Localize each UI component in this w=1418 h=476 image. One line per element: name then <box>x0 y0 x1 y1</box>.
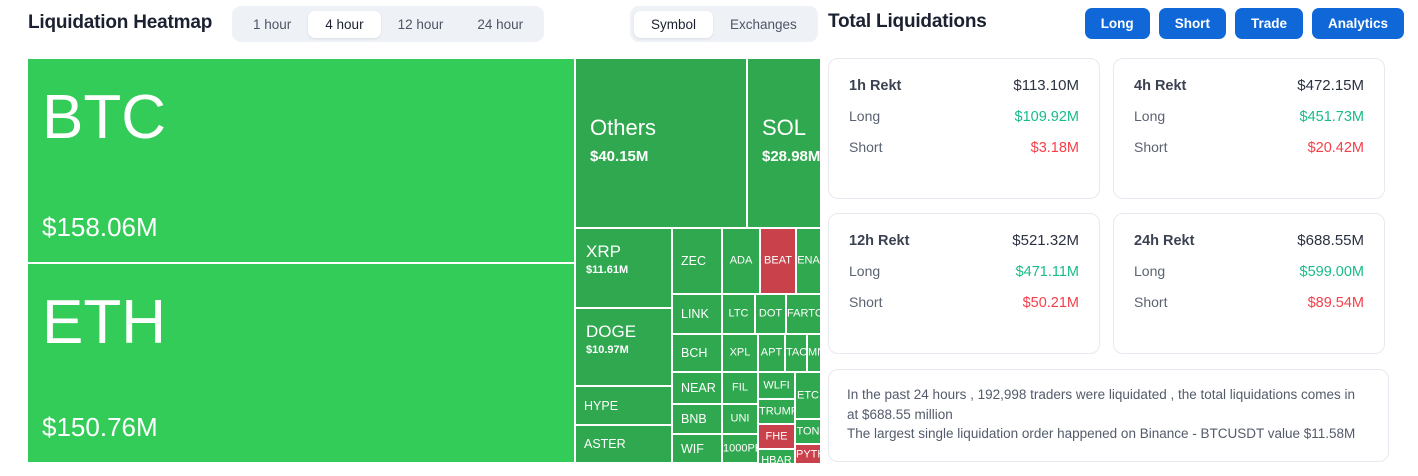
stat-card-title: 24h Rekt <box>1134 233 1194 249</box>
treemap-tile-symbol: TRUMP <box>759 406 794 417</box>
treemap-tile-symbol: WLFI <box>759 380 794 391</box>
tab-symbol[interactable]: Symbol <box>634 11 713 38</box>
tab-1-hour[interactable]: 1 hour <box>236 11 308 38</box>
stat-long-value: $451.73M <box>1300 109 1365 125</box>
stat-card-total: $521.32M <box>1012 232 1079 249</box>
long-button[interactable]: Long <box>1085 8 1150 39</box>
stat-long-value: $109.92M <box>1015 109 1080 125</box>
stat-card-24h-rekt: 24h Rekt$688.55MLong$599.00MShort$89.54M <box>1113 213 1385 354</box>
treemap-tile-value: $11.61M <box>586 265 671 276</box>
treemap-tile-hbar[interactable]: HBAR <box>758 449 795 463</box>
treemap-tile-doge[interactable]: DOGE$10.97M <box>575 308 672 386</box>
treemap-tile-bch[interactable]: BCH <box>672 334 722 372</box>
liquidation-treemap[interactable]: BTC$158.06METH$150.76MOthers$40.15MSOL$2… <box>27 58 821 463</box>
treemap-tile-wlfi[interactable]: WLFI <box>758 372 795 399</box>
treemap-tile-mnt[interactable]: MNT <box>807 334 821 372</box>
treemap-tile-symbol: BEAT <box>761 256 795 267</box>
treemap-tile-symbol: XRP <box>586 243 671 260</box>
treemap-tile-near[interactable]: NEAR <box>672 372 722 404</box>
treemap-tile-symbol: XPL <box>723 348 757 359</box>
treemap-tile-value: $150.76M <box>42 414 574 440</box>
treemap-tile-eth[interactable]: ETH$150.76M <box>27 263 575 463</box>
treemap-tile-aster[interactable]: ASTER <box>575 425 672 463</box>
stat-row-long: Long$599.00M <box>1134 263 1364 280</box>
short-button[interactable]: Short <box>1159 8 1226 39</box>
treemap-tile-symbol: TON <box>796 426 820 437</box>
treemap-tile-fhe[interactable]: FHE <box>758 424 795 449</box>
stat-short-label: Short <box>849 139 882 155</box>
stat-card-total: $113.10M <box>1013 77 1079 94</box>
treemap-tile-symbol: BCH <box>681 347 721 360</box>
treemap-tile-symbol: ASTER <box>584 438 671 451</box>
stat-short-value: $50.21M <box>1023 295 1079 311</box>
treemap-tile-symbol: DOT <box>756 309 785 320</box>
stat-card-12h-rekt: 12h Rekt$521.32MLong$471.11MShort$50.21M <box>828 213 1100 354</box>
stat-long-label: Long <box>1134 108 1165 124</box>
timeframe-tab-group[interactable]: 1 hour4 hour12 hour24 hour <box>232 6 544 42</box>
trade-button[interactable]: Trade <box>1235 8 1303 39</box>
treemap-tile-symbol: FHE <box>759 431 794 442</box>
treemap-tile-symbol: HYPE <box>584 399 671 412</box>
treemap-tile-value: $28.98M <box>762 149 820 164</box>
stat-row-short: Short$3.18M <box>849 139 1079 156</box>
tab-4-hour[interactable]: 4 hour <box>308 11 380 38</box>
treemap-tile-xrp[interactable]: XRP$11.61M <box>575 228 672 308</box>
stat-row-total: 4h Rekt$472.15M <box>1134 77 1364 94</box>
treemap-tile-bnb[interactable]: BNB <box>672 404 722 434</box>
treemap-tile-uni[interactable]: UNI <box>722 404 758 434</box>
tab-exchanges[interactable]: Exchanges <box>713 11 814 38</box>
stat-card-total: $472.15M <box>1297 77 1364 94</box>
stat-long-label: Long <box>1134 263 1165 279</box>
treemap-tile-symbol: TAO <box>786 348 806 359</box>
treemap-tile-symbol: LTC <box>723 309 754 320</box>
treemap-tile-symbol: HBAR <box>759 456 794 464</box>
summary-card: In the past 24 hours , 192,998 traders w… <box>828 369 1389 462</box>
treemap-tile-symbol: UNI <box>723 414 757 425</box>
treemap-tile-ena[interactable]: ENA <box>796 228 821 294</box>
treemap-tile-symbol: FARTCOIN <box>787 309 820 320</box>
stat-card-title: 1h Rekt <box>849 78 901 94</box>
treemap-tile-btc[interactable]: BTC$158.06M <box>27 58 575 263</box>
stat-row-short: Short$20.42M <box>1134 139 1364 156</box>
treemap-tile-symbol: ETH <box>42 292 574 354</box>
treemap-tile-symbol: Others <box>590 117 746 139</box>
treemap-tile-symbol: WIF <box>681 442 721 455</box>
treemap-tile-value: $40.15M <box>590 149 746 164</box>
treemap-tile-symbol: MNT <box>808 348 820 359</box>
treemap-tile-symbol: PYTH <box>796 450 820 461</box>
treemap-tile-symbol: FIL <box>723 383 757 394</box>
stat-long-value: $599.00M <box>1300 264 1365 280</box>
stat-row-total: 24h Rekt$688.55M <box>1134 232 1364 249</box>
stat-card-1h-rekt: 1h Rekt$113.10MLong$109.92MShort$3.18M <box>828 58 1100 199</box>
treemap-tile-apt[interactable]: APT <box>758 334 785 372</box>
treemap-tile-ton[interactable]: TON <box>795 419 821 444</box>
treemap-tile-value: $158.06M <box>42 214 574 240</box>
total-liquidations-title: Total Liquidations <box>828 11 987 33</box>
treemap-tile-symbol: ZEC <box>681 255 721 268</box>
stat-short-label: Short <box>1134 139 1167 155</box>
treemap-tile-link[interactable]: LINK <box>672 294 722 334</box>
treemap-tile-fil[interactable]: FIL <box>722 372 758 404</box>
treemap-tile-symbol: BTC <box>42 87 574 149</box>
stat-card-title: 12h Rekt <box>849 233 909 249</box>
stat-card-4h-rekt: 4h Rekt$472.15MLong$451.73MShort$20.42M <box>1113 58 1385 199</box>
stat-long-label: Long <box>849 108 880 124</box>
stat-long-value: $471.11M <box>1016 264 1079 280</box>
treemap-tile-value: $10.97M <box>586 345 671 356</box>
treemap-tile-trump[interactable]: TRUMP <box>758 399 795 424</box>
stat-row-short: Short$89.54M <box>1134 294 1364 311</box>
treemap-tile-symbol: SOL <box>762 117 820 139</box>
treemap-tile-ada[interactable]: ADA <box>722 228 760 294</box>
treemap-tile-symbol: ADA <box>723 256 759 267</box>
treemap-tile-hype[interactable]: HYPE <box>575 386 672 425</box>
treemap-tile-etc[interactable]: ETC <box>795 372 821 419</box>
treemap-tile-symbol: APT <box>759 348 784 359</box>
heatmap-title: Liquidation Heatmap <box>28 12 212 34</box>
liquidation-dashboard: Liquidation Heatmap 1 hour4 hour12 hour2… <box>0 0 1418 476</box>
stat-row-total: 1h Rekt$113.10M <box>849 77 1079 94</box>
treemap-tile-fartcoin[interactable]: FARTCOIN <box>786 294 821 334</box>
treemap-tile-symbol: DOGE <box>586 323 671 340</box>
treemap-tile-ltc[interactable]: LTC <box>722 294 755 334</box>
treemap-tile-symbol: ETC <box>796 390 820 401</box>
action-button-row[interactable]: LongShortTradeAnalytics <box>1085 8 1404 39</box>
summary-line-2: The largest single liquidation order hap… <box>847 424 1370 444</box>
tab-24-hour[interactable]: 24 hour <box>460 11 540 38</box>
stat-short-label: Short <box>1134 294 1167 310</box>
tab-12-hour[interactable]: 12 hour <box>381 11 461 38</box>
stat-short-value: $20.42M <box>1308 140 1364 156</box>
stat-row-total: 12h Rekt$521.32M <box>849 232 1079 249</box>
treemap-tile-symbol: ENA <box>797 256 820 267</box>
treemap-tile-beat[interactable]: BEAT <box>760 228 796 294</box>
treemap-tile-others[interactable]: Others$40.15M <box>575 58 747 228</box>
treemap-tile-symbol: 1000PEPE <box>723 443 757 454</box>
stat-short-value: $3.18M <box>1031 140 1079 156</box>
page-header: Liquidation Heatmap 1 hour4 hour12 hour2… <box>0 0 1418 50</box>
treemap-tile-pyth[interactable]: PYTH <box>795 444 821 463</box>
treemap-tile-1000pepe[interactable]: 1000PEPE <box>722 434 758 463</box>
stat-long-label: Long <box>849 263 880 279</box>
summary-line-1: In the past 24 hours , 192,998 traders w… <box>847 385 1370 424</box>
stat-card-title: 4h Rekt <box>1134 78 1186 94</box>
treemap-tile-wif[interactable]: WIF <box>672 434 722 463</box>
treemap-tile-sol[interactable]: SOL$28.98M <box>747 58 821 228</box>
treemap-tile-dot[interactable]: DOT <box>755 294 786 334</box>
treemap-tile-symbol: BNB <box>681 413 721 426</box>
stat-row-long: Long$451.73M <box>1134 108 1364 125</box>
treemap-tile-xpl[interactable]: XPL <box>722 334 758 372</box>
stat-short-value: $89.54M <box>1308 295 1364 311</box>
view-mode-tab-group[interactable]: SymbolExchanges <box>630 6 818 42</box>
treemap-tile-symbol: NEAR <box>681 382 721 395</box>
stat-short-label: Short <box>849 294 882 310</box>
analytics-button[interactable]: Analytics <box>1312 8 1404 39</box>
stat-row-long: Long$471.11M <box>849 263 1079 280</box>
treemap-tile-zec[interactable]: ZEC <box>672 228 722 294</box>
stat-row-short: Short$50.21M <box>849 294 1079 311</box>
stat-card-total: $688.55M <box>1297 232 1364 249</box>
treemap-tile-symbol: LINK <box>681 308 721 321</box>
treemap-tile-tao[interactable]: TAO <box>785 334 807 372</box>
stat-row-long: Long$109.92M <box>849 108 1079 125</box>
